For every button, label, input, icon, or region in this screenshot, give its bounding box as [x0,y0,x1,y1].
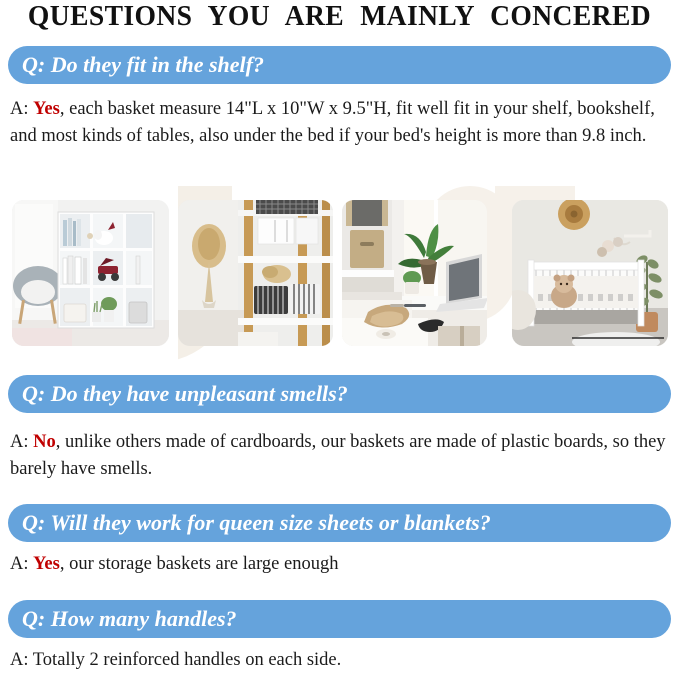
faq-answer-3: A: Yes, our storage baskets are large en… [10,551,674,578]
faq-answer-body-3: , our storage baskets are large enough [60,554,339,574]
faq-answer-body-2: , unlike others made of cardboards, our … [10,432,666,479]
faq-question-text-2: Q: Do they have unpleasant smells? [8,382,348,406]
faq-answer-prefix-3: A: [10,554,33,574]
faq-question-text-4: Q: How many handles? [8,607,237,631]
faq-answer-body-4: Totally 2 reinforced handles on each sid… [33,650,341,670]
faq-answer-4: A: Totally 2 reinforced handles on each … [10,647,674,674]
faq-question-bar-2[interactable]: Q: Do they have unpleasant smells? [8,375,671,413]
faq-answer-highlight-2: No [33,432,56,452]
faq-answer-2: A: No, unlike others made of cardboards,… [10,429,674,483]
decorative-shape-right [495,186,575,266]
faq-question-text-1: Q: Do they fit in the shelf? [8,53,264,77]
faq-question-bar-3[interactable]: Q: Will they work for queen size sheets … [8,504,671,542]
faq-answer-highlight-1: Yes [33,99,60,119]
decorative-shape-left [86,186,232,362]
faq-answer-prefix-4: A: [10,650,33,670]
photo-nursery-crib-room [512,200,668,346]
decorative-shape-left-mask [86,186,178,362]
faq-answer-prefix-1: A: [10,99,33,119]
page-title: QUESTIONS YOU ARE MAINLY CONCERED [5,1,674,33]
faq-question-bar-4[interactable]: Q: How many handles? [8,600,671,638]
photo-white-cube-bookshelf-with-chair [12,200,169,346]
faq-answer-highlight-3: Yes [33,554,60,574]
faq-question-text-3: Q: Will they work for queen size sheets … [8,511,491,535]
faq-answer-body-1: , each basket measure 14"L x 10"W x 9.5"… [10,99,655,146]
faq-question-bar-1[interactable]: Q: Do they fit in the shelf? [8,46,671,84]
decorative-shape-middle [424,186,516,322]
photo-home-office-desk-with-laptop [342,200,487,346]
faq-answer-prefix-2: A: [10,432,33,452]
faq-answer-1: A: Yes, each basket measure 14"L x 10"W … [10,96,674,150]
photo-wooden-bunk-bed-shelving [178,200,333,346]
